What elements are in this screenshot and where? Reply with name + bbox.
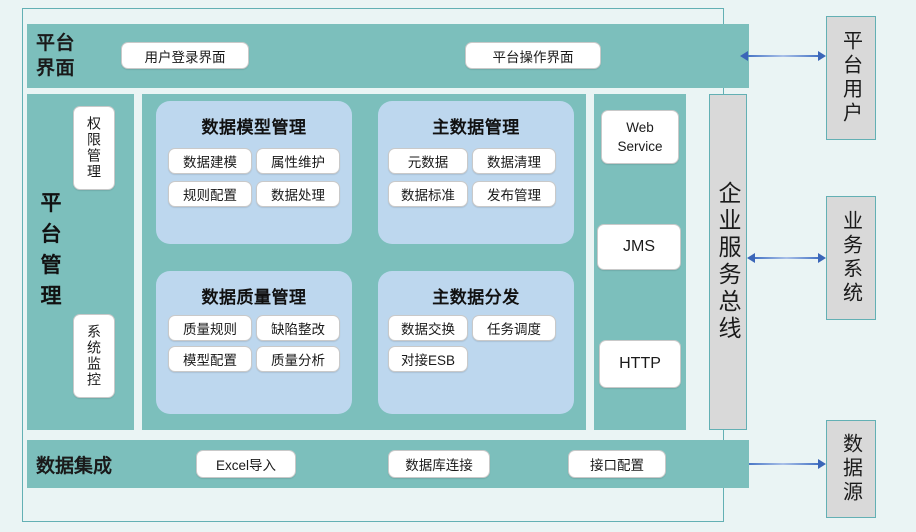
- group-title: 主数据管理: [378, 113, 574, 138]
- actor-business-system[interactable]: 业务系统: [826, 196, 876, 320]
- arrow-line: [747, 463, 819, 465]
- group-master-data-distribution: 主数据分发: [378, 271, 574, 414]
- group-title: 主数据分发: [378, 283, 574, 308]
- item-rule-configuration[interactable]: 规则配置: [168, 181, 252, 207]
- arrow-line: [754, 257, 819, 259]
- actor-data-source[interactable]: 数据源: [826, 420, 876, 518]
- item-data-exchange[interactable]: 数据交换: [388, 315, 468, 341]
- data-integration-title: 数据集成: [36, 450, 146, 478]
- button-platform-operation-interface[interactable]: 平台操作界面: [465, 42, 601, 69]
- architecture-diagram: 平台 界面 用户登录界面 平台操作界面 平台 管理 权限管理 系统监控 数据模型…: [0, 0, 916, 532]
- arrow-line: [747, 55, 819, 57]
- button-excel-import[interactable]: Excel导入: [196, 450, 296, 478]
- actor-platform-user[interactable]: 平台用户: [826, 16, 876, 140]
- item-quality-analysis[interactable]: 质量分析: [256, 346, 340, 372]
- button-user-login-interface[interactable]: 用户登录界面: [121, 42, 249, 69]
- arrow-head-left-icon: [740, 51, 748, 61]
- button-database-connection[interactable]: 数据库连接: [388, 450, 490, 478]
- enterprise-service-bus: 企业服务总线: [709, 94, 747, 430]
- platform-management-title: 平台 管理: [36, 188, 66, 316]
- item-data-cleaning[interactable]: 数据清理: [472, 148, 556, 174]
- arrow-head-right-icon: [818, 459, 826, 469]
- item-esb-integration[interactable]: 对接ESB: [388, 346, 468, 372]
- group-data-quality-management: 数据质量管理: [156, 271, 352, 414]
- item-attribute-maintenance[interactable]: 属性维护: [256, 148, 340, 174]
- actor-label: 平台用户: [837, 30, 866, 126]
- item-metadata[interactable]: 元数据: [388, 148, 468, 174]
- item-release-management[interactable]: 发布管理: [472, 181, 556, 207]
- item-defect-rectification[interactable]: 缺陷整改: [256, 315, 340, 341]
- item-model-configuration[interactable]: 模型配置: [168, 346, 252, 372]
- item-http[interactable]: HTTP: [599, 340, 681, 388]
- arrow-data-source: [740, 459, 826, 469]
- arrow-head-right-icon: [818, 253, 826, 263]
- arrow-business-system: [747, 253, 826, 263]
- actor-label: 业务系统: [837, 210, 866, 306]
- platform-interface-title: 平台 界面: [36, 30, 108, 82]
- arrow-platform-user: [740, 51, 826, 61]
- item-quality-rules[interactable]: 质量规则: [168, 315, 252, 341]
- actor-label: 数据源: [837, 433, 866, 505]
- item-jms[interactable]: JMS: [597, 224, 681, 270]
- esb-label: 企业服务总线: [711, 181, 745, 343]
- button-interface-configuration[interactable]: 接口配置: [568, 450, 666, 478]
- group-title: 数据模型管理: [156, 113, 352, 138]
- item-data-modeling[interactable]: 数据建模: [168, 148, 252, 174]
- item-web-service[interactable]: Web Service: [601, 110, 679, 164]
- item-system-monitoring[interactable]: 系统监控: [73, 314, 115, 398]
- group-title: 数据质量管理: [156, 283, 352, 308]
- arrow-head-left-icon: [747, 253, 755, 263]
- arrow-head-right-icon: [818, 51, 826, 61]
- item-data-processing[interactable]: 数据处理: [256, 181, 340, 207]
- item-permission-management[interactable]: 权限管理: [73, 106, 115, 190]
- item-data-standard[interactable]: 数据标准: [388, 181, 468, 207]
- item-task-scheduling[interactable]: 任务调度: [472, 315, 556, 341]
